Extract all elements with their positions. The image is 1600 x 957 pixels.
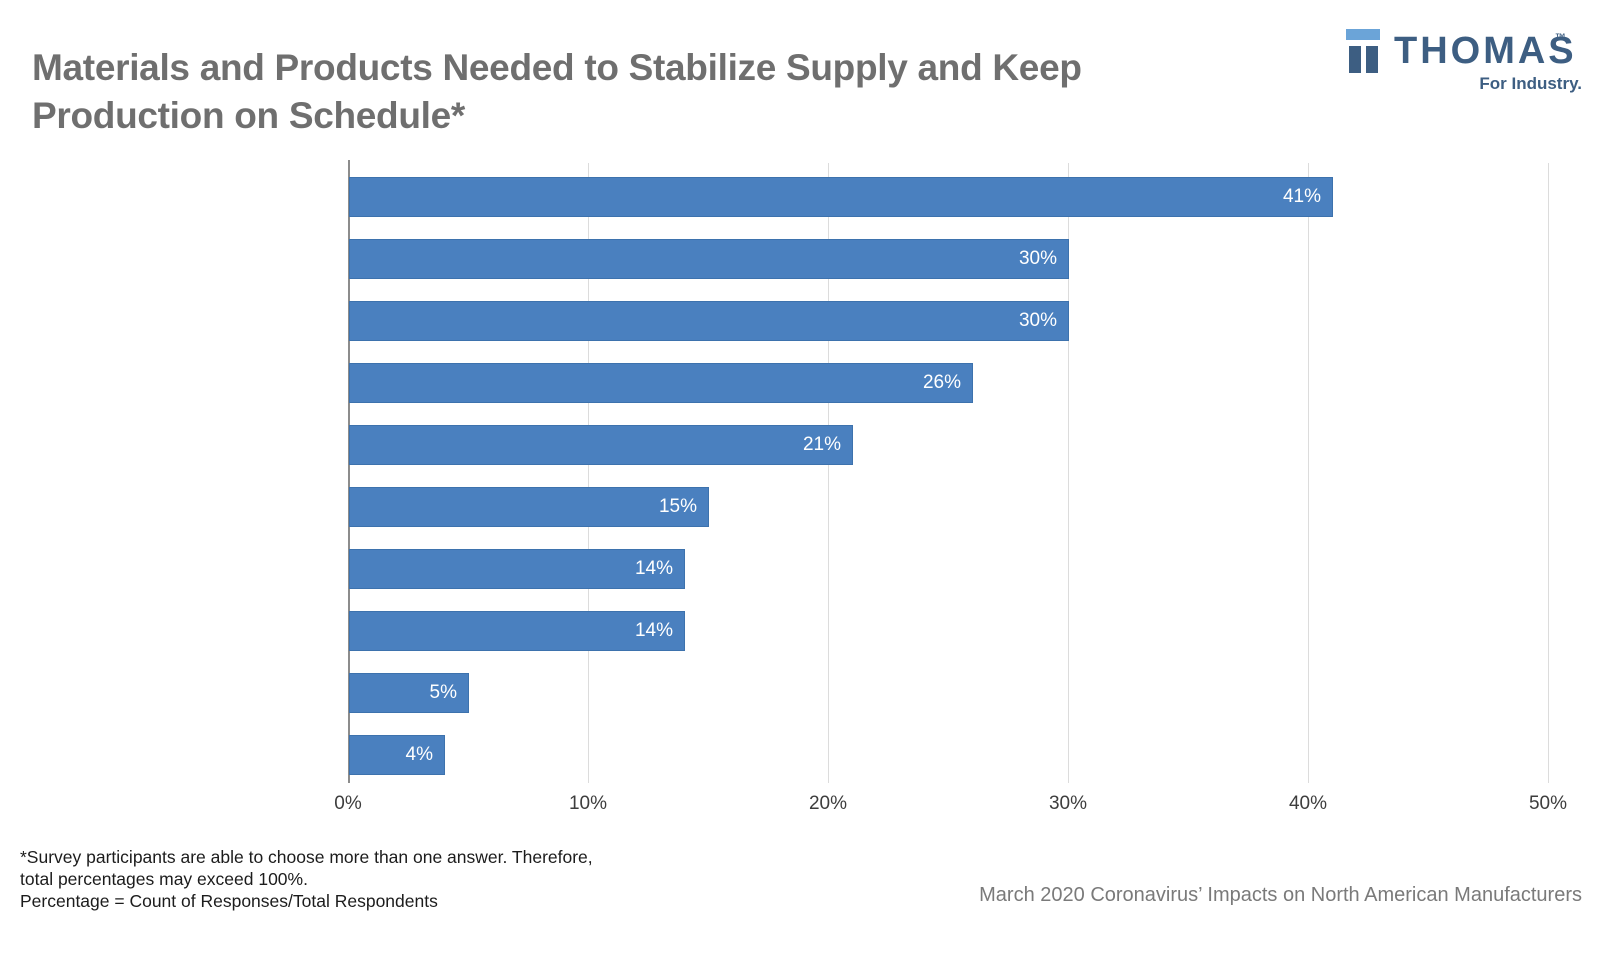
bar[interactable]: 15%	[349, 487, 709, 527]
bar[interactable]: 21%	[349, 425, 853, 465]
footnote: *Survey participants are able to choose …	[20, 846, 720, 912]
footnote-line-1: *Survey participants are able to choose …	[20, 846, 720, 868]
bar[interactable]: 4%	[349, 735, 445, 775]
bar-chart: 0%10%20%30%40%50% Fabricated materials (…	[0, 0, 1600, 957]
bar[interactable]: 14%	[349, 611, 685, 651]
x-tick-label: 40%	[1289, 793, 1327, 815]
bar-value-label: 15%	[659, 496, 708, 518]
x-tick-label: 10%	[569, 793, 607, 815]
bar-value-label: 5%	[430, 682, 468, 704]
x-tick-label: 30%	[1049, 793, 1087, 815]
x-tick-label: 20%	[809, 793, 847, 815]
bar-value-label: 14%	[635, 558, 684, 580]
gridline-50%	[1548, 163, 1549, 783]
attribution: March 2020 Coronavirus’ Impacts on North…	[979, 884, 1582, 907]
bar[interactable]: 30%	[349, 239, 1069, 279]
bar[interactable]: 5%	[349, 673, 469, 713]
bar[interactable]: 41%	[349, 177, 1333, 217]
bar-value-label: 4%	[406, 744, 444, 766]
bar[interactable]: 14%	[349, 549, 685, 589]
bar-value-label: 30%	[1019, 248, 1068, 270]
footnote-line-3: Percentage = Count of Responses/Total Re…	[20, 890, 720, 912]
bar-value-label: 14%	[635, 620, 684, 642]
bar-value-label: 21%	[803, 434, 852, 456]
bar[interactable]: 26%	[349, 363, 973, 403]
bar-value-label: 26%	[923, 372, 972, 394]
footnote-line-2: total percentages may exceed 100%.	[20, 868, 720, 890]
bar-value-label: 41%	[1283, 186, 1332, 208]
x-tick-label: 0%	[334, 793, 361, 815]
bar-value-label: 30%	[1019, 310, 1068, 332]
bar[interactable]: 30%	[349, 301, 1069, 341]
gridline-40%	[1308, 163, 1309, 783]
x-tick-label: 50%	[1529, 793, 1567, 815]
